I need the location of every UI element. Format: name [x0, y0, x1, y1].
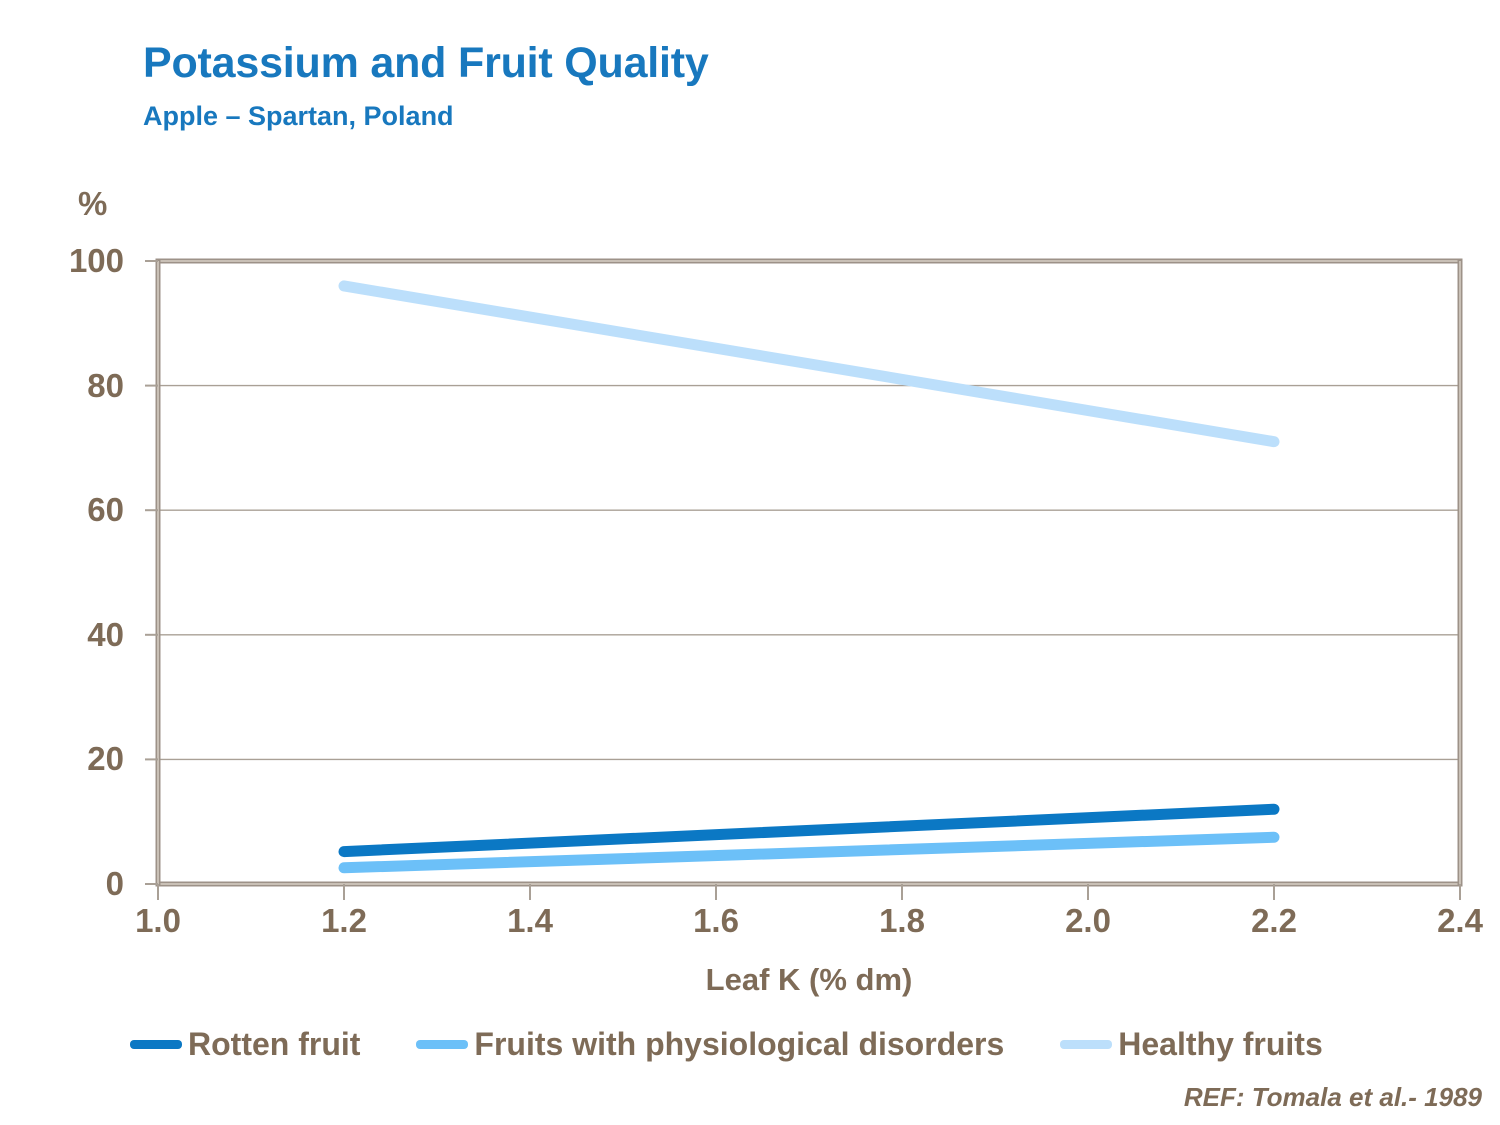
series-line-healthy-fruits — [344, 286, 1274, 442]
series-lines — [344, 286, 1274, 868]
plot-frame — [158, 261, 1460, 884]
chart-area: % 0 20 40 60 80 100 1.0 1.2 1.4 1.6 1.8 … — [0, 0, 1500, 1125]
legend-label-rotten-fruit: Rotten fruit — [188, 1026, 360, 1063]
reference-citation: REF: Tomala et al.- 1989 — [1184, 1082, 1482, 1113]
legend-item-rotten-fruit[interactable]: Rotten fruit — [130, 1026, 360, 1063]
axis-tick-marks — [145, 261, 1460, 900]
legend-swatch-icon-rotten-fruit — [130, 1040, 182, 1049]
legend-item-physiological-disorders[interactable]: Fruits with physiological disorders — [416, 1026, 1004, 1063]
plot-canvas — [0, 0, 1500, 1125]
x-axis-title: Leaf K (% dm) — [158, 962, 1460, 998]
legend-swatch-icon-healthy-fruits — [1060, 1040, 1112, 1049]
legend-item-healthy-fruits[interactable]: Healthy fruits — [1060, 1026, 1322, 1063]
legend-label-healthy-fruits: Healthy fruits — [1118, 1026, 1322, 1063]
legend-label-physiological-disorders: Fruits with physiological disorders — [474, 1026, 1004, 1063]
chart-legend: Rotten fruit Fruits with physiological d… — [130, 1026, 1470, 1063]
legend-swatch-icon-physiological-disorders — [416, 1040, 468, 1049]
